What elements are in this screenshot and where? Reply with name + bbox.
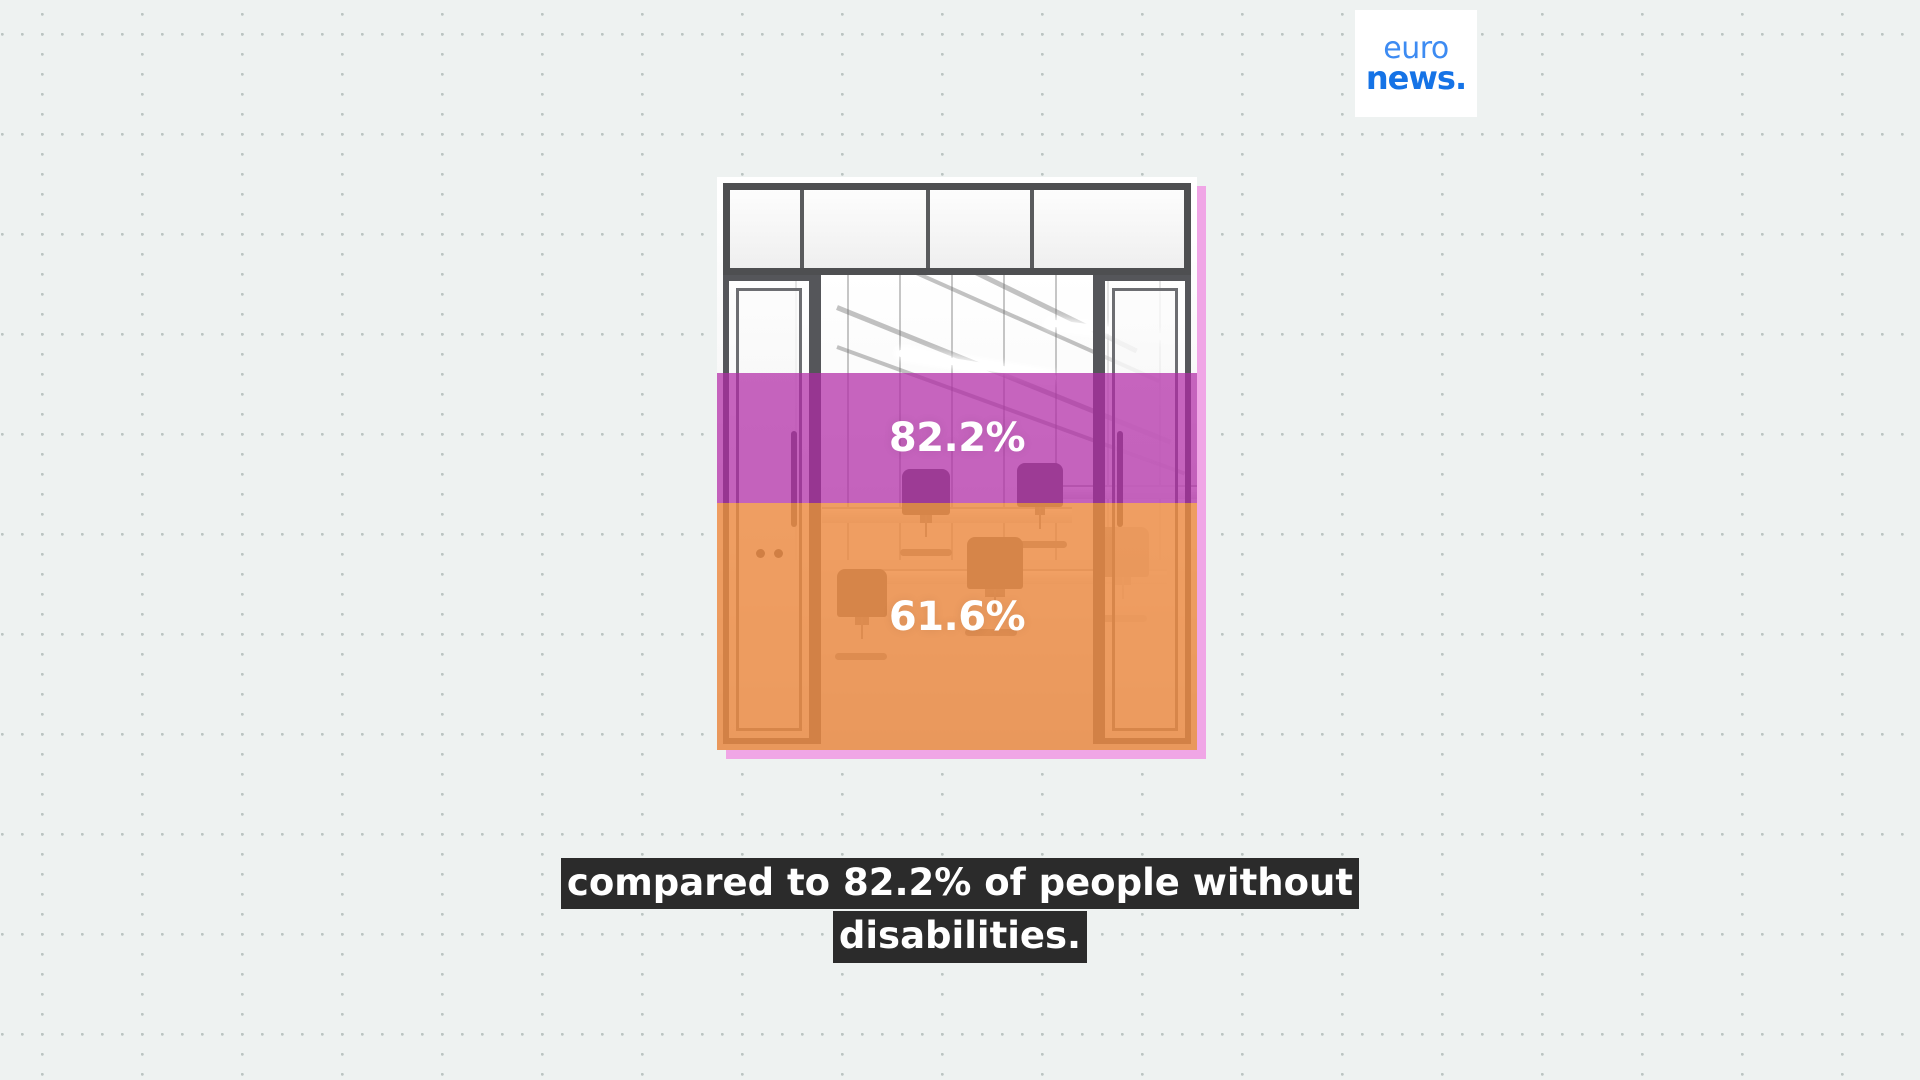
office-photo: 82.2% 61.6%	[717, 177, 1197, 750]
transom-window	[723, 183, 1191, 275]
logo-text-news: news.	[1366, 62, 1466, 94]
infographic-stage: euro news.	[0, 0, 1920, 1080]
caption-line-1: compared to 82.2% of people without	[561, 858, 1359, 909]
caption-subtitle: compared to 82.2% of people without disa…	[0, 858, 1920, 963]
photo-chart-card: 82.2% 61.6%	[717, 177, 1197, 750]
caption-line-2: disabilities.	[833, 911, 1087, 962]
caption-row-1: compared to 82.2% of people without	[0, 858, 1920, 909]
bar-label-without-disabilities: 82.2%	[889, 415, 1025, 461]
bar-label-with-disabilities: 61.6%	[889, 594, 1025, 640]
caption-row-2: disabilities.	[0, 911, 1920, 962]
bar-people-without-disabilities: 82.2%	[717, 373, 1197, 503]
bar-people-with-disabilities: 61.6%	[717, 503, 1197, 750]
euronews-logo: euro news.	[1355, 10, 1477, 117]
